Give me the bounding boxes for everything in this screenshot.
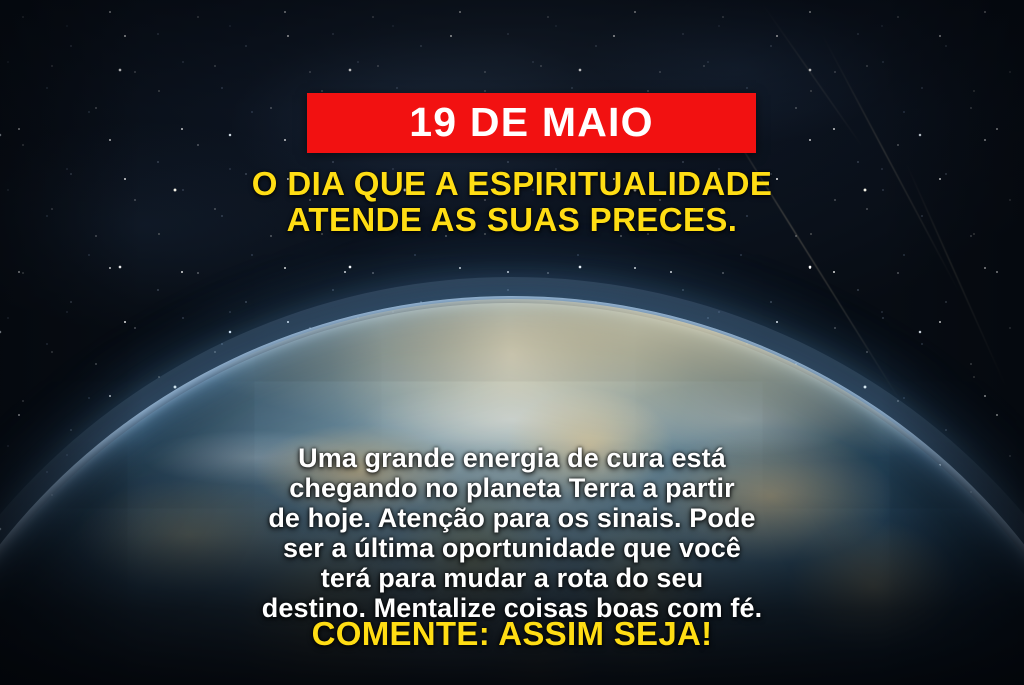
body-line-1: Uma grande energia de cura está [0,443,1024,473]
body-line-4: ser a última oportunidade que você [0,533,1024,563]
body-paragraph: Uma grande energia de cura está chegando… [0,443,1024,623]
headline-line-1: O DIA QUE A ESPIRITUALIDADE [0,166,1024,202]
body-line-2: chegando no planeta Terra a partir [0,473,1024,503]
date-banner: 19 DE MAIO [307,93,756,153]
poster-canvas: 19 DE MAIO O DIA QUE A ESPIRITUALIDADE A… [0,0,1024,685]
poster-content: 19 DE MAIO O DIA QUE A ESPIRITUALIDADE A… [0,0,1024,685]
headline: O DIA QUE A ESPIRITUALIDADE ATENDE AS SU… [0,166,1024,238]
body-line-3: de hoje. Atenção para os sinais. Pode [0,503,1024,533]
call-to-action-text: COMENTE: ASSIM SEJA! [0,615,1024,653]
body-line-5: terá para mudar a rota do seu [0,563,1024,593]
date-banner-label: 19 DE MAIO [409,102,653,143]
headline-line-2: ATENDE AS SUAS PRECES. [0,202,1024,238]
